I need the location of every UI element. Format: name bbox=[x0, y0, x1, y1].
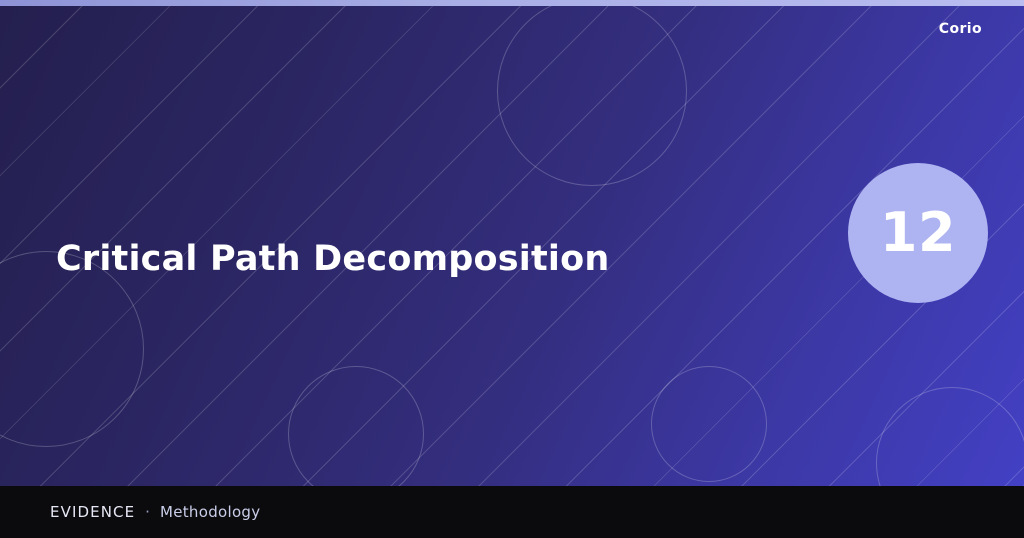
decorative-circle-outline bbox=[288, 366, 424, 486]
footer-kicker: EVIDENCE bbox=[50, 503, 135, 521]
decorative-circle-outline bbox=[0, 251, 144, 447]
slide-number-badge: 12 bbox=[848, 163, 988, 303]
footer-separator: · bbox=[135, 503, 160, 521]
slide-number-value: 12 bbox=[880, 206, 956, 260]
brand-wordmark: Corio bbox=[939, 21, 982, 37]
top-accent-strip bbox=[0, 0, 1024, 6]
page-title: Critical Path Decomposition bbox=[56, 239, 609, 279]
footer-section-label: Methodology bbox=[160, 503, 260, 521]
decorative-circle-outline bbox=[651, 366, 767, 482]
slide-root: Corio 12 Critical Path Decomposition EVI… bbox=[0, 0, 1024, 538]
footer-bar: EVIDENCE · Methodology bbox=[0, 486, 1024, 538]
decorative-circle-outline bbox=[876, 387, 1024, 486]
footer-content: EVIDENCE · Methodology bbox=[0, 503, 260, 521]
decorative-circle-outline bbox=[497, 4, 687, 186]
